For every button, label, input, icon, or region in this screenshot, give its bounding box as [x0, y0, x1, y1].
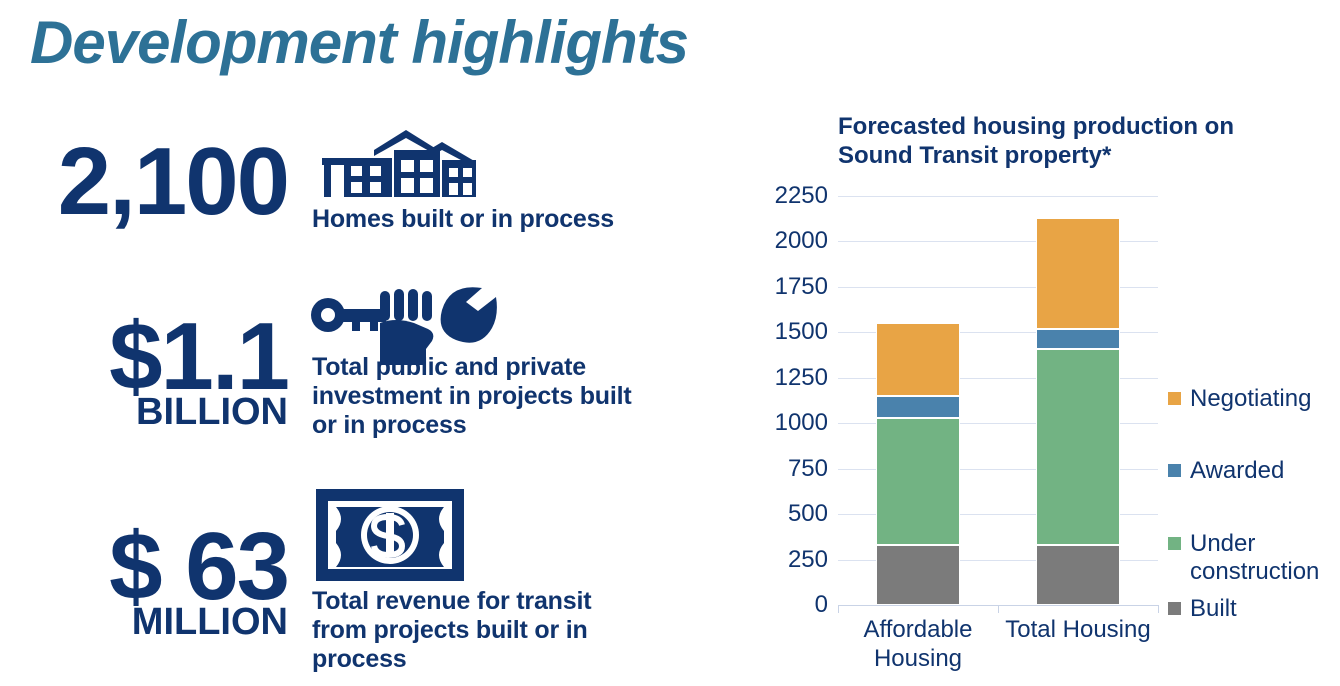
stat-description: Total public and private investment in p… — [312, 353, 662, 440]
stat-figure: $1.1 BILLION — [0, 313, 288, 430]
bar-affordable-housing[interactable] — [876, 196, 960, 605]
houses-icon — [310, 128, 490, 211]
bar-total-housing[interactable] — [1036, 196, 1120, 605]
y-axis-tick-label: 1500 — [708, 318, 828, 346]
y-axis-tick-label: 750 — [708, 455, 828, 483]
legend-swatch-icon — [1168, 602, 1181, 615]
y-axis-tick-label: 500 — [708, 500, 828, 528]
y-axis-tick-label: 1000 — [708, 409, 828, 437]
y-axis-tick-label: 1250 — [708, 364, 828, 392]
x-axis-tick — [1158, 605, 1159, 613]
bar-segment-awarded[interactable] — [876, 396, 960, 418]
stat-item-investment: $1.1 BILLION To — [0, 285, 720, 465]
legend-swatch-icon — [1168, 392, 1181, 405]
stat-number: 2,100 — [0, 138, 288, 226]
legend-item-negotiating[interactable]: Negotiating — [1168, 385, 1311, 413]
stat-number: $1.1 — [0, 313, 288, 401]
bar-segment-built[interactable] — [1036, 545, 1120, 605]
slide-canvas: Development highlights 2,100 — [0, 0, 1340, 686]
x-axis-label: Total Housing — [998, 616, 1158, 645]
legend-item-awarded[interactable]: Awarded — [1168, 457, 1284, 485]
y-axis-tick-label: 0 — [708, 591, 828, 619]
stat-item-homes: 2,100 — [0, 120, 720, 270]
stat-figure: 2,100 — [0, 138, 288, 226]
bar-segment-under-construction[interactable] — [1036, 349, 1120, 545]
y-axis-tick-label: 1750 — [708, 273, 828, 301]
x-axis-tick — [998, 605, 999, 613]
bar-segment-built[interactable] — [876, 545, 960, 605]
stat-description: Homes built or in process — [312, 205, 642, 234]
legend-swatch-icon — [1168, 464, 1181, 477]
chart-title: Forecasted housing production on Sound T… — [838, 112, 1308, 171]
chart-plot-area: 0250500750100012501500175020002250Afford… — [838, 196, 1158, 606]
x-axis-label: Affordable Housing — [838, 616, 998, 674]
chart-panel: Forecasted housing production on Sound T… — [720, 0, 1340, 686]
legend-label: Built — [1190, 595, 1237, 623]
stat-number: $ 63 — [0, 523, 288, 611]
legend-label: Awarded — [1190, 457, 1284, 485]
legend-label: Negotiating — [1190, 385, 1311, 413]
dollar-bill-icon — [316, 485, 464, 586]
bar-segment-negotiating[interactable] — [1036, 218, 1120, 329]
stat-item-revenue: $ 63 MILLION Total revenue for transit f… — [0, 485, 720, 685]
stat-description: Total revenue for transit from projects … — [312, 587, 652, 674]
legend-swatch-icon — [1168, 537, 1181, 550]
stat-unit: MILLION — [0, 605, 288, 640]
y-axis-tick-label: 250 — [708, 546, 828, 574]
y-axis-tick-label: 2000 — [708, 227, 828, 255]
legend-item-built[interactable]: Built — [1168, 595, 1237, 623]
legend-item-under-construction[interactable]: Under construction — [1168, 530, 1340, 587]
x-axis-tick — [838, 605, 839, 613]
bar-segment-negotiating[interactable] — [876, 323, 960, 396]
legend-label: Under construction — [1190, 530, 1340, 587]
bar-segment-under-construction[interactable] — [876, 418, 960, 545]
stat-unit: BILLION — [0, 395, 288, 430]
stat-figure: $ 63 MILLION — [0, 523, 288, 640]
page-title: Development highlights — [30, 8, 688, 77]
bar-segment-awarded[interactable] — [1036, 329, 1120, 349]
stats-column: 2,100 — [0, 120, 720, 680]
y-axis-tick-label: 2250 — [708, 182, 828, 210]
